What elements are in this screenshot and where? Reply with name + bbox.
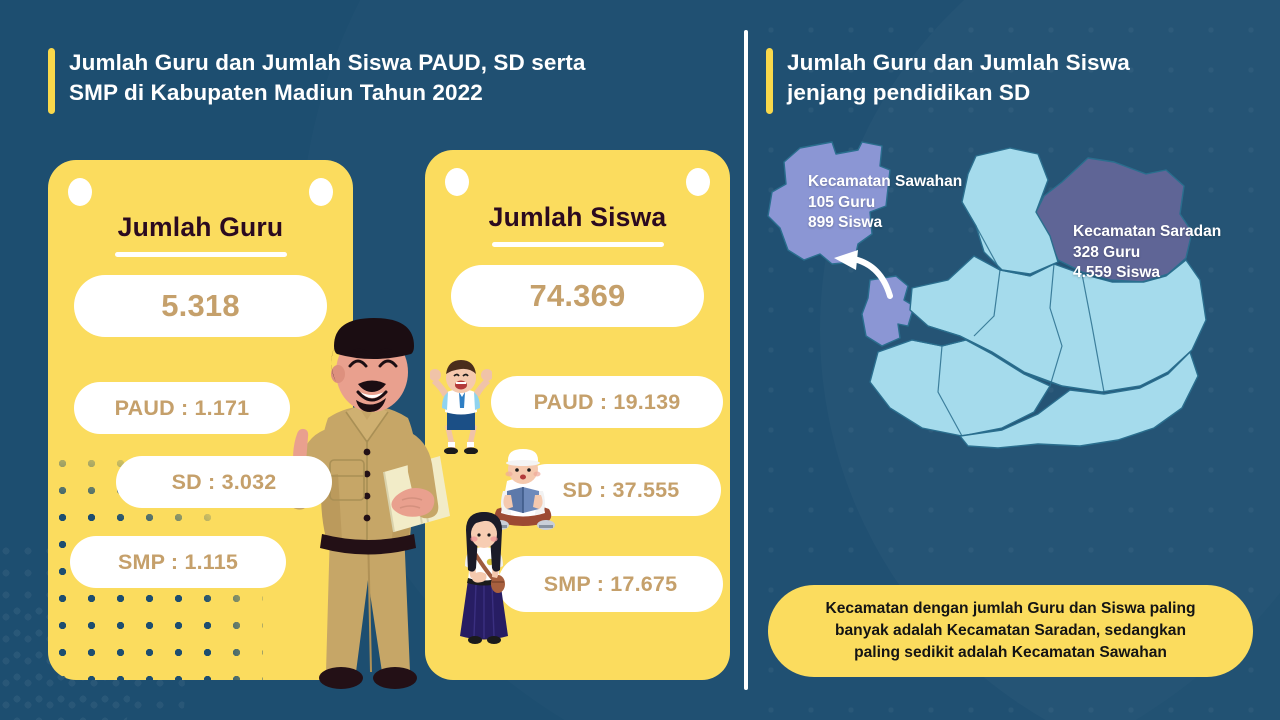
card-punch-hole-left: [68, 178, 92, 206]
card-title-underline: [492, 242, 664, 247]
siswa-smp-value: SMP : 17.675: [498, 556, 723, 612]
map-label-saradan: Kecamatan Saradan 328 Guru 4.559 Siswa: [1073, 222, 1221, 284]
panel-divider: [744, 30, 748, 690]
guru-sd-value: SD : 3.032: [116, 456, 332, 508]
guru-paud-value: PAUD : 1.171: [74, 382, 290, 434]
right-panel-title: Jumlah Guru dan Jumlah Siswa jenjang pen…: [787, 48, 1130, 108]
infographic-canvas: Jumlah Guru dan Jumlah Siswa PAUD, SD se…: [0, 0, 1280, 720]
map-label-sawahan: Kecamatan Sawahan 105 Guru 899 Siswa: [808, 172, 962, 234]
card-punch-hole-right: [686, 168, 710, 196]
right-panel-heading: Jumlah Guru dan Jumlah Siswa jenjang pen…: [766, 48, 1236, 114]
guru-smp-value: SMP : 1.115: [70, 536, 286, 588]
heading-accent-bar: [48, 48, 55, 114]
siswa-paud-value: PAUD : 19.139: [491, 376, 723, 428]
card-title: Jumlah Guru: [48, 212, 353, 243]
guru-total-value: 5.318: [74, 275, 327, 337]
cheering-boy-student-icon: [430, 358, 492, 454]
card-punch-hole-right: [309, 178, 333, 206]
siswa-total-value: 74.369: [451, 265, 704, 327]
heading-accent-bar: [766, 48, 773, 114]
girl-student-icon: [452, 508, 516, 648]
card-punch-hole-left: [445, 168, 469, 196]
card-title: Jumlah Siswa: [425, 202, 730, 233]
left-panel-title: Jumlah Guru dan Jumlah Siswa PAUD, SD se…: [69, 48, 586, 108]
card-title-underline: [115, 252, 287, 257]
left-panel-heading: Jumlah Guru dan Jumlah Siswa PAUD, SD se…: [48, 48, 728, 114]
conclusion-callout: Kecamatan dengan jumlah Guru dan Siswa p…: [768, 585, 1253, 677]
